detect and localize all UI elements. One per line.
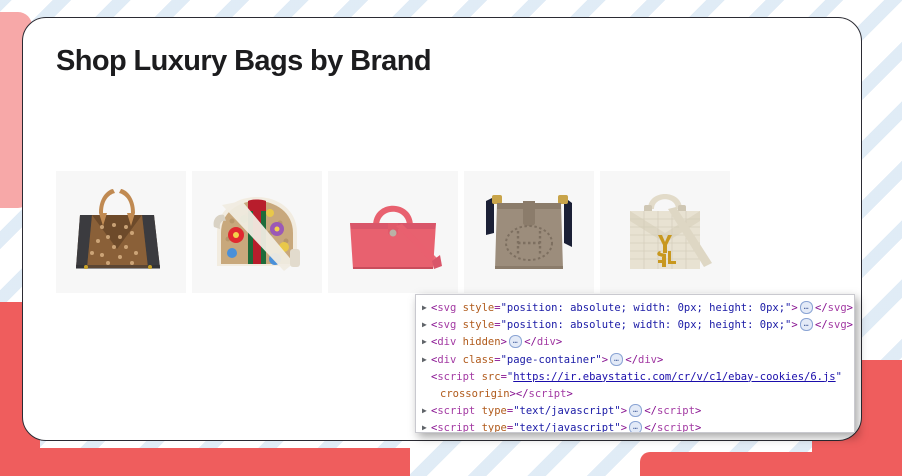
- dom-token-punct: </: [625, 354, 638, 366]
- dom-token-val: "page-container": [501, 354, 602, 366]
- dom-token-val: "text/javascript": [513, 422, 620, 433]
- row-indent-spacer: ▶: [422, 368, 431, 385]
- coral-leather-shopping-tote-image: [328, 171, 458, 293]
- dom-token-punct: >: [847, 319, 853, 331]
- dom-token-attr: src: [482, 371, 501, 383]
- dom-node-row[interactable]: ▶<div hidden>…</div>: [422, 334, 850, 351]
- dom-node-row[interactable]: ▶<script src="https://ir.ebaystatic.com/…: [422, 369, 850, 386]
- dom-token-val: "position: absolute; width: 0px; height:…: [501, 319, 792, 331]
- expand-triangle-icon[interactable]: ▶: [422, 419, 431, 433]
- dom-token-punct: >: [566, 388, 572, 400]
- ysl-cassandra-croc-top-handle-image: [600, 171, 730, 293]
- row-indent-spacer: ▶: [422, 385, 431, 402]
- collapsed-children-icon[interactable]: …: [509, 335, 522, 348]
- dom-token-punct: >: [791, 319, 797, 331]
- screenshot-root: Shop Luxury Bags by Brand: [0, 0, 902, 476]
- dom-token-punct: >: [621, 422, 627, 433]
- dom-token-attr: type: [482, 422, 507, 433]
- dom-token-punct: </: [644, 405, 657, 417]
- product-carousel[interactable]: [56, 171, 730, 293]
- collapsed-children-icon[interactable]: …: [800, 318, 813, 331]
- collapsed-children-icon[interactable]: …: [629, 404, 642, 417]
- product-tile-saint-laurent[interactable]: [600, 171, 730, 293]
- dom-token-tag: script: [657, 422, 695, 433]
- row-indent-spacer: [431, 386, 440, 403]
- decoration-shape-bottom-strip: [0, 448, 410, 476]
- dom-token-val: "text/javascript": [513, 405, 620, 417]
- collapsed-children-icon[interactable]: …: [629, 421, 642, 433]
- dom-token-tag: script: [437, 405, 475, 417]
- dom-token-tag: svg: [828, 319, 847, 331]
- dom-token-attr: style: [463, 319, 495, 331]
- product-tile-gucci[interactable]: [192, 171, 322, 293]
- dom-token-tag: div: [638, 354, 657, 366]
- dom-token-tag: svg: [437, 302, 456, 314]
- dom-token-punct: >: [847, 302, 853, 314]
- dom-token-punct: >: [556, 336, 562, 348]
- dom-inspector-popup[interactable]: ▶<svg style="position: absolute; width: …: [415, 294, 855, 433]
- dom-node-row[interactable]: ▶<div class="page-container">…</div>: [422, 352, 850, 369]
- dom-token-val: ": [836, 371, 842, 383]
- dom-token-tag: script: [657, 405, 695, 417]
- dom-token-punct: >: [602, 354, 608, 366]
- dom-token-punct: </: [815, 319, 828, 331]
- dom-token-punct: >: [621, 405, 627, 417]
- dom-token-punct: ></: [510, 388, 529, 400]
- dom-token-punct: </: [815, 302, 828, 314]
- expand-triangle-icon[interactable]: ▶: [422, 402, 431, 419]
- dom-token-val: "position: absolute; width: 0px; height:…: [501, 302, 792, 314]
- expand-triangle-icon[interactable]: ▶: [422, 333, 431, 350]
- dom-token-tag: svg: [828, 302, 847, 314]
- dom-node-row[interactable]: ▶<script type="text/javascript">…</scrip…: [422, 420, 850, 433]
- page-title: Shop Luxury Bags by Brand: [56, 45, 431, 78]
- dom-token-tag: div: [437, 354, 456, 366]
- dom-token-tag: script: [437, 371, 475, 383]
- dom-token-tag: svg: [437, 319, 456, 331]
- dom-token-link[interactable]: https://ir.ebaystatic.com/cr/v/c1/ebay-c…: [513, 371, 835, 383]
- dom-token-attr: crossorigin: [440, 388, 510, 400]
- dom-token-tag: script: [437, 422, 475, 433]
- dom-token-tag: script: [529, 388, 567, 400]
- product-tile-louis-vuitton[interactable]: [56, 171, 186, 293]
- hermes-evelyne-crossbody-image: [464, 171, 594, 293]
- product-tile-coral-tote[interactable]: [328, 171, 458, 293]
- dom-token-punct: </: [644, 422, 657, 433]
- dom-token-punct: >: [791, 302, 797, 314]
- dom-node-row[interactable]: ▶<script type="text/javascript">…</scrip…: [422, 403, 850, 420]
- louis-vuitton-w-tote-image: [56, 171, 186, 293]
- expand-triangle-icon[interactable]: ▶: [422, 351, 431, 368]
- dom-token-tag: div: [437, 336, 456, 348]
- dom-node-row[interactable]: ▶ crossorigin></script>: [422, 386, 850, 403]
- dom-token-punct: </: [524, 336, 537, 348]
- dom-token-attr: hidden: [463, 336, 501, 348]
- dom-token-tag: div: [537, 336, 556, 348]
- dom-token-punct: >: [657, 354, 663, 366]
- dom-token-punct: >: [695, 422, 701, 433]
- expand-triangle-icon[interactable]: ▶: [422, 299, 431, 316]
- collapsed-children-icon[interactable]: …: [610, 353, 623, 366]
- product-tile-hermes[interactable]: [464, 171, 594, 293]
- dom-token-attr: type: [482, 405, 507, 417]
- gucci-ophidia-flora-dome-image: [192, 171, 322, 293]
- dom-token-punct: >: [695, 405, 701, 417]
- collapsed-children-icon[interactable]: …: [800, 301, 813, 314]
- dom-node-row[interactable]: ▶<svg style="position: absolute; width: …: [422, 300, 850, 317]
- dom-node-row[interactable]: ▶<svg style="position: absolute; width: …: [422, 317, 850, 334]
- dom-token-attr: class: [463, 354, 495, 366]
- dom-token-punct: >: [501, 336, 507, 348]
- dom-token-attr: style: [463, 302, 495, 314]
- expand-triangle-icon[interactable]: ▶: [422, 316, 431, 333]
